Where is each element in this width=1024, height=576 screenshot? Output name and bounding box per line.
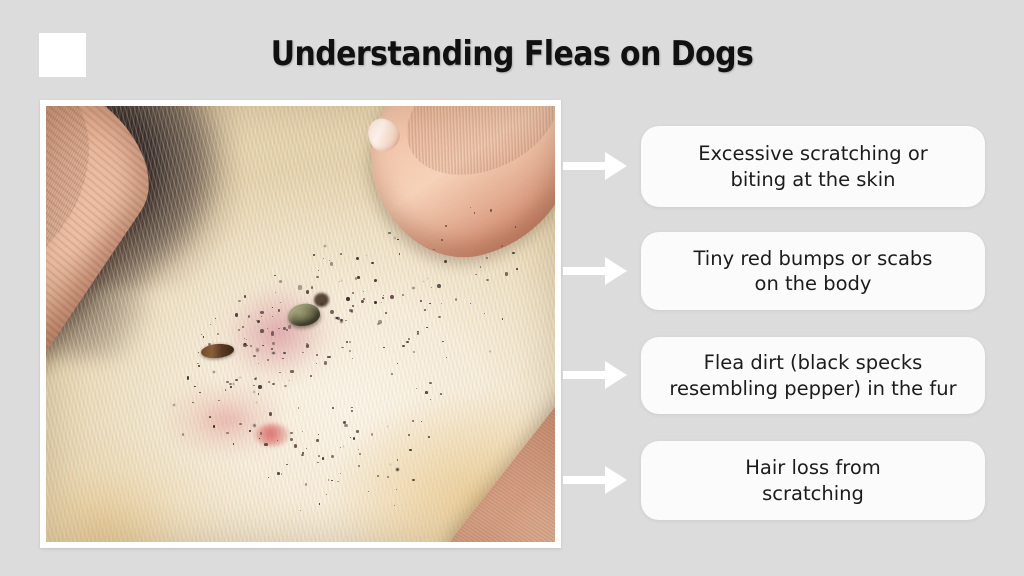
arrow-head — [605, 257, 627, 285]
arrow-shaft — [563, 371, 607, 379]
callout-2-label: Tiny red bumps or scabs on the body — [694, 246, 933, 297]
arrow-shaft — [563, 476, 607, 484]
callout-1-label: Excessive scratching or biting at the sk… — [698, 141, 928, 192]
callout-box-2[interactable]: Tiny red bumps or scabs on the body — [641, 232, 985, 310]
arrow-head — [605, 361, 627, 389]
callout-box-3[interactable]: Flea dirt (black specks resembling peppe… — [641, 337, 985, 414]
callout-3-label: Flea dirt (black specks resembling peppe… — [669, 350, 956, 401]
photo-frame — [40, 100, 561, 548]
arrow-shaft — [563, 162, 607, 170]
dog-flea-photo — [46, 106, 555, 542]
arrow-head — [605, 466, 627, 494]
callout-4-label: Hair loss from scratching — [745, 455, 881, 506]
page-title: Understanding Fleas on Dogs — [61, 34, 962, 74]
arrow-shaft — [563, 267, 607, 275]
callout-box-4[interactable]: Hair loss from scratching — [641, 441, 985, 520]
callout-box-1[interactable]: Excessive scratching or biting at the sk… — [641, 126, 985, 207]
tick-head — [314, 293, 329, 307]
arrow-head — [605, 152, 627, 180]
